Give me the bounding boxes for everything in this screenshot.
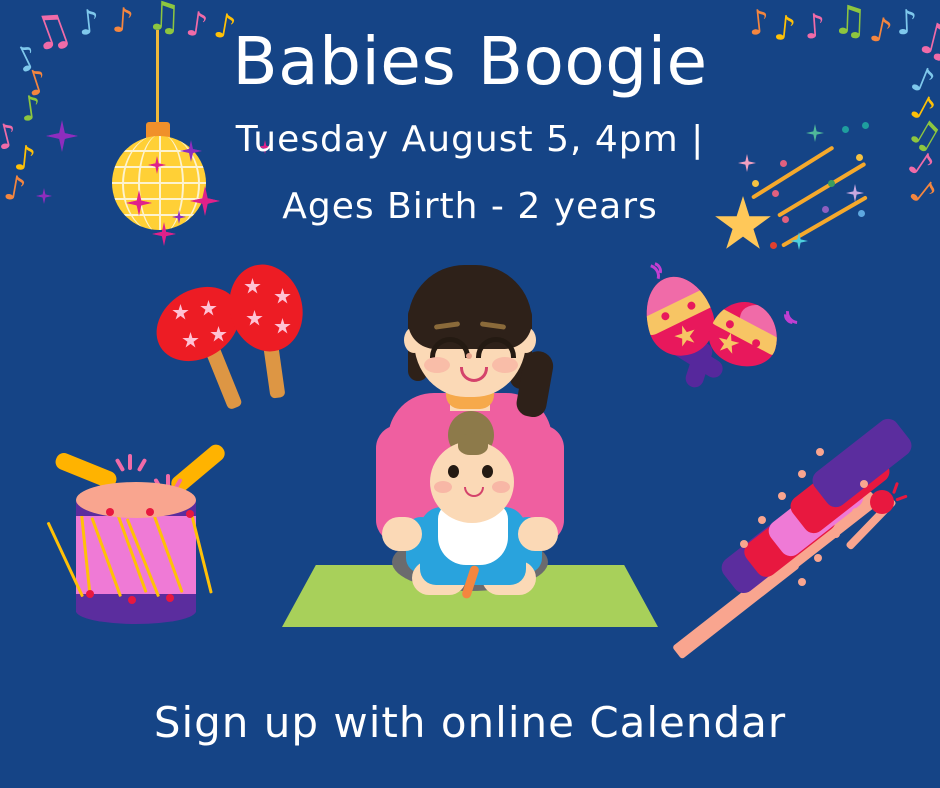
drum-peg: [106, 508, 114, 516]
maraca-star: [672, 322, 700, 350]
xylophone: [712, 436, 927, 636]
xylophone-peg: [798, 470, 806, 478]
impact-line: [892, 482, 899, 494]
drum-peg: [86, 590, 94, 598]
event-age-range: Ages Birth - 2 years: [0, 185, 940, 229]
event-datetime: Tuesday August 5, 4pm |: [0, 118, 940, 162]
drum-head: [76, 482, 196, 518]
xylophone-peg: [778, 492, 786, 500]
drum-bottom-rim: [76, 594, 196, 612]
mother-nose: [466, 353, 472, 359]
baby-cheek-right: [492, 481, 510, 493]
baby-cheek-left: [434, 481, 452, 493]
mother-and-baby-illustration: [270, 265, 670, 645]
baby-eye-right: [482, 465, 493, 478]
impact-line: [115, 458, 125, 472]
impact-line: [128, 454, 132, 470]
mother-hand-right: [518, 517, 558, 551]
xylophone-peg: [860, 480, 868, 488]
xylophone-mallet-head: [870, 490, 894, 514]
drum-peg: [128, 596, 136, 604]
signup-call-to-action: Sign up with online Calendar: [0, 698, 940, 748]
mother-hand-left: [382, 517, 422, 551]
confetti-dot: [770, 242, 777, 249]
mother-cheek-right: [492, 357, 518, 373]
xylophone-peg: [816, 448, 824, 456]
baby-hair: [458, 433, 488, 455]
xylophone-peg: [814, 554, 822, 562]
toy-drum: [48, 448, 268, 648]
xylophone-peg: [852, 508, 860, 516]
drum-peg: [146, 508, 154, 516]
drum-peg: [186, 510, 194, 518]
impact-line: [137, 458, 147, 472]
event-flyer: ♪ ♪ ♪ ♪ ♪ ♪ ♫ ♪ ♪ ♫ ♪ ♪: [0, 0, 940, 788]
xylophone-peg: [740, 540, 748, 548]
xylophone-peg: [832, 530, 840, 538]
mother-cheek-left: [424, 357, 450, 373]
mother-hair-top: [408, 265, 532, 349]
drum-peg: [166, 594, 174, 602]
impact-line: [895, 495, 907, 502]
baby-eye-left: [448, 465, 459, 478]
page-title: Babies Boogie: [0, 26, 940, 98]
xylophone-peg: [758, 516, 766, 524]
xylophone-peg: [798, 578, 806, 586]
